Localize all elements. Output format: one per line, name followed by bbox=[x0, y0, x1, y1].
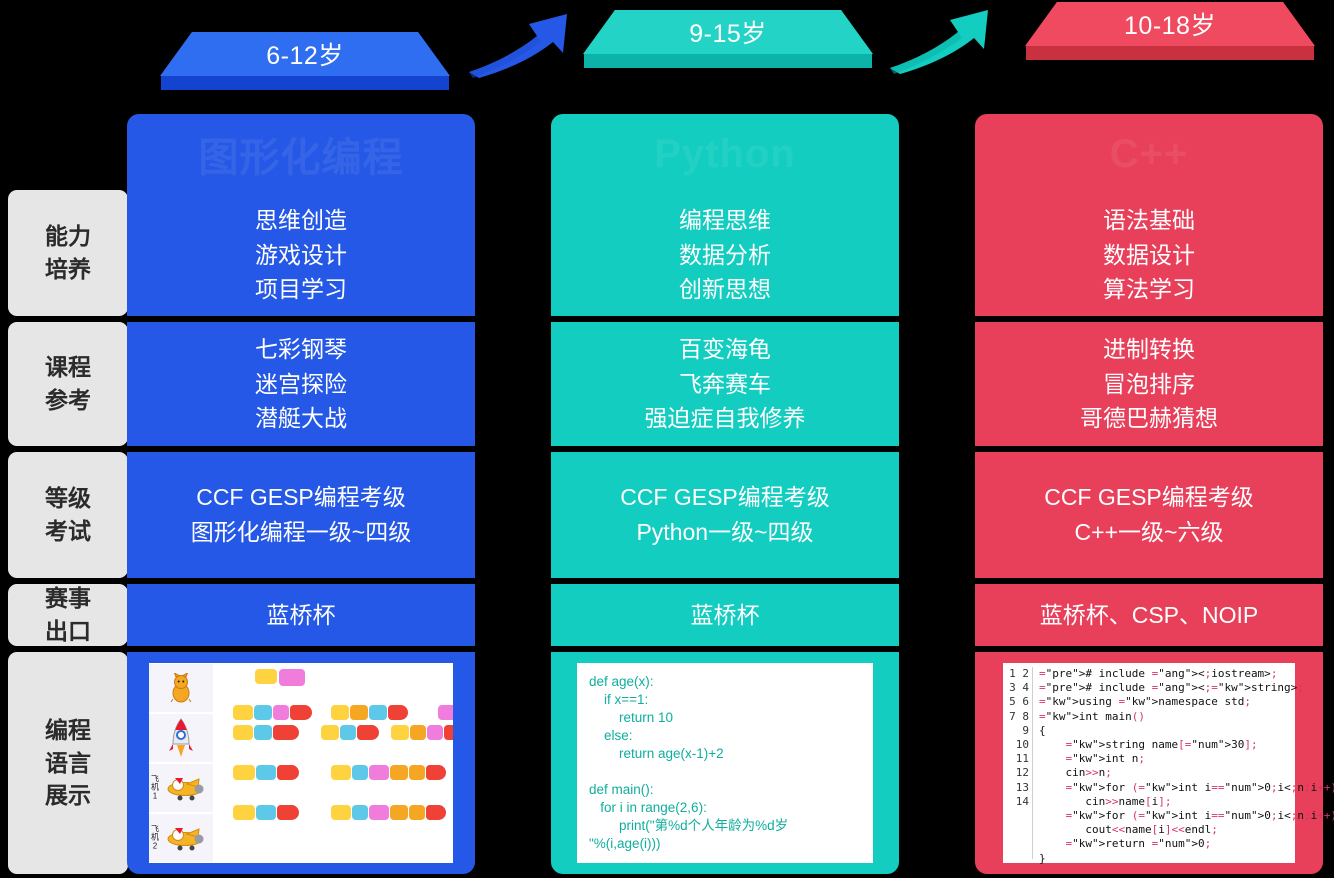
column-watermark: C++ bbox=[1110, 132, 1189, 177]
cell-exams-cpp: CCF GESP编程考级 C++一级~六级 bbox=[975, 452, 1323, 578]
row-label-language-demo: 编程 语言 展示 bbox=[8, 652, 128, 874]
scratch-block bbox=[254, 705, 272, 720]
column-graphical: 图形化编程 思维创造 游戏设计 项目学习 七彩钢琴 迷宫探险 潜艇大战 CCF … bbox=[127, 114, 475, 874]
cell-line: Python一级~四级 bbox=[636, 515, 813, 550]
row-label-line: 编程 bbox=[45, 714, 91, 747]
arrow-teal-icon bbox=[884, 4, 1004, 81]
scratch-block bbox=[369, 705, 387, 720]
cpp-code-screenshot: 1 2 3 4 5 6 7 8 9 10 11 12 13 14 ="pre">… bbox=[1003, 663, 1295, 863]
platform-base-2 bbox=[1026, 46, 1314, 60]
cell-contests-cpp: 蓝桥杯、CSP、NOIP bbox=[975, 584, 1323, 646]
platform-header-0: 6-12岁 bbox=[160, 32, 450, 90]
cell-courses-cpp: 进制转换 冒泡排序 哥德巴赫猜想 bbox=[975, 322, 1323, 446]
scratch-block bbox=[426, 805, 446, 820]
arrow-blue-icon bbox=[463, 8, 583, 85]
cell-line: 冒泡排序 bbox=[1103, 367, 1195, 402]
cpp-line-number-gutter: 1 2 3 4 5 6 7 8 9 10 11 12 13 14 bbox=[1003, 667, 1033, 859]
cell-line: 飞奔赛车 bbox=[679, 367, 771, 402]
scratch-block bbox=[427, 725, 443, 740]
scratch-block bbox=[410, 725, 426, 740]
row-label-line: 课程 bbox=[45, 351, 91, 384]
scratch-block bbox=[369, 765, 389, 780]
scratch-block bbox=[352, 765, 368, 780]
age-label-2: 10-18岁 bbox=[1025, 2, 1315, 46]
row-label-line: 等级 bbox=[45, 482, 91, 515]
cell-language-demo-python: def age(x): if x==1: return 10 else: ret… bbox=[551, 652, 899, 874]
cell-line: 百变海龟 bbox=[679, 332, 771, 367]
column-watermark: 图形化编程 bbox=[199, 125, 404, 183]
cell-courses-python: 百变海龟 飞奔赛车 强迫症自我修养 bbox=[551, 322, 899, 446]
age-label-0: 6-12岁 bbox=[160, 32, 450, 76]
cell-contests-graphical: 蓝桥杯 bbox=[127, 584, 475, 646]
cell-line: CCF GESP编程考级 bbox=[196, 480, 406, 515]
plane-sprite-icon: 飞机2 bbox=[149, 814, 213, 862]
scratch-sprite-list: 飞机1 飞机2 bbox=[149, 663, 213, 863]
platform-base-0 bbox=[161, 76, 449, 90]
cell-line: 游戏设计 bbox=[255, 238, 347, 273]
row-label-ability: 能力 培养 bbox=[8, 190, 128, 316]
row-label-exams: 等级 考试 bbox=[8, 452, 128, 578]
cell-line: 算法学习 bbox=[1103, 272, 1195, 307]
row-label-line: 赛事 bbox=[45, 582, 91, 615]
row-label-line: 考试 bbox=[45, 515, 91, 548]
scratch-block bbox=[426, 765, 446, 780]
row-label-line: 参考 bbox=[45, 384, 91, 417]
scratch-block bbox=[388, 705, 408, 720]
row-label-contests: 赛事 出口 bbox=[8, 584, 128, 646]
cell-line: 迷宫探险 bbox=[255, 367, 347, 402]
platform-header-1: 9-15岁 bbox=[583, 10, 873, 68]
scratch-block bbox=[438, 705, 453, 720]
scratch-block bbox=[357, 725, 379, 740]
cell-line: C++一级~六级 bbox=[1075, 515, 1224, 550]
column-python: Python 编程思维 数据分析 创新思想 百变海龟 飞奔赛车 强迫症自我修养 … bbox=[551, 114, 899, 874]
cell-line: 语法基础 bbox=[1103, 203, 1195, 238]
platform-top-0: 6-12岁 bbox=[160, 32, 450, 76]
cell-line: CCF GESP编程考级 bbox=[620, 480, 830, 515]
cat-sprite-icon bbox=[149, 664, 213, 712]
scratch-block bbox=[233, 805, 255, 820]
column-header-cpp: C++ bbox=[975, 114, 1323, 194]
cell-contests-python: 蓝桥杯 bbox=[551, 584, 899, 646]
plane-sprite-icon: 飞机1 bbox=[149, 764, 213, 812]
scratch-block bbox=[321, 725, 339, 740]
cell-courses-graphical: 七彩钢琴 迷宫探险 潜艇大战 bbox=[127, 322, 475, 446]
cell-line: CCF GESP编程考级 bbox=[1044, 480, 1254, 515]
cell-line: 潜艇大战 bbox=[255, 401, 347, 436]
cell-ability-cpp: 语法基础 数据设计 算法学习 bbox=[975, 194, 1323, 316]
column-watermark: Python bbox=[654, 132, 796, 177]
scratch-block bbox=[273, 725, 299, 740]
cell-line: 七彩钢琴 bbox=[255, 332, 347, 367]
cell-line: 数据设计 bbox=[1103, 238, 1195, 273]
platform-top-2: 10-18岁 bbox=[1025, 2, 1315, 46]
scratch-block-canvas bbox=[213, 663, 453, 863]
cell-line: 哥德巴赫猜想 bbox=[1080, 401, 1218, 436]
cell-exams-graphical: CCF GESP编程考级 图形化编程一级~四级 bbox=[127, 452, 475, 578]
cell-exams-python: CCF GESP编程考级 Python一级~四级 bbox=[551, 452, 899, 578]
platform-header-2: 10-18岁 bbox=[1025, 2, 1315, 60]
scratch-block bbox=[273, 705, 289, 720]
column-header-python: Python bbox=[551, 114, 899, 194]
cpp-code-lines: ="pre"># include ="ang"><;iostream>; ="p… bbox=[1033, 667, 1334, 859]
cell-line: 思维创造 bbox=[255, 203, 347, 238]
column-cpp: C++ 语法基础 数据设计 算法学习 进制转换 冒泡排序 哥德巴赫猜想 CCF … bbox=[975, 114, 1323, 874]
scratch-block bbox=[279, 669, 305, 686]
cell-line: 图形化编程一级~四级 bbox=[191, 515, 411, 550]
scratch-block bbox=[255, 669, 277, 684]
cell-line: 蓝桥杯、CSP、NOIP bbox=[1040, 598, 1259, 633]
cell-line: 数据分析 bbox=[679, 238, 771, 273]
infographic-stage: 6-12岁 9-15岁 10-18岁 能力 培养 bbox=[0, 0, 1334, 878]
scratch-block bbox=[331, 805, 351, 820]
row-label-line: 出口 bbox=[45, 615, 91, 648]
row-label-courses: 课程 参考 bbox=[8, 322, 128, 446]
row-label-line: 能力 bbox=[45, 220, 91, 253]
cell-line: 创新思想 bbox=[679, 272, 771, 307]
scratch-block bbox=[444, 725, 453, 740]
cell-language-demo-cpp: 1 2 3 4 5 6 7 8 9 10 11 12 13 14 ="pre">… bbox=[975, 652, 1323, 874]
scratch-block bbox=[256, 805, 276, 820]
python-code-screenshot: def age(x): if x==1: return 10 else: ret… bbox=[577, 663, 873, 863]
scratch-block bbox=[233, 725, 253, 740]
platform-top-1: 9-15岁 bbox=[583, 10, 873, 54]
scratch-block bbox=[256, 765, 276, 780]
scratch-block bbox=[290, 705, 312, 720]
scratch-block bbox=[331, 705, 349, 720]
cell-line: 蓝桥杯 bbox=[691, 598, 760, 633]
sprite-caption: 飞机1 bbox=[150, 775, 160, 800]
platform-base-1 bbox=[584, 54, 872, 68]
scratch-block bbox=[254, 725, 272, 740]
scratch-block bbox=[409, 805, 425, 820]
cell-ability-graphical: 思维创造 游戏设计 项目学习 bbox=[127, 194, 475, 316]
scratch-block bbox=[331, 765, 351, 780]
cell-line: 项目学习 bbox=[255, 272, 347, 307]
cell-ability-python: 编程思维 数据分析 创新思想 bbox=[551, 194, 899, 316]
scratch-block bbox=[277, 765, 299, 780]
cell-line: 蓝桥杯 bbox=[267, 598, 336, 633]
cell-line: 进制转换 bbox=[1103, 332, 1195, 367]
scratch-block bbox=[391, 725, 409, 740]
scratch-block bbox=[390, 805, 408, 820]
rocket-sprite-icon bbox=[149, 714, 213, 762]
scratch-block bbox=[340, 725, 356, 740]
scratch-block bbox=[390, 765, 408, 780]
scratch-editor-screenshot: 飞机1 飞机2 bbox=[149, 663, 453, 863]
cell-line: 强迫症自我修养 bbox=[645, 401, 806, 436]
cell-line: 编程思维 bbox=[679, 203, 771, 238]
scratch-block bbox=[233, 705, 253, 720]
scratch-block bbox=[369, 805, 389, 820]
row-label-line: 语言 bbox=[45, 747, 91, 780]
age-label-1: 9-15岁 bbox=[583, 10, 873, 54]
cell-language-demo-graphical: 飞机1 飞机2 bbox=[127, 652, 475, 874]
scratch-block bbox=[352, 805, 368, 820]
scratch-block bbox=[277, 805, 299, 820]
scratch-block bbox=[409, 765, 425, 780]
scratch-block bbox=[233, 765, 255, 780]
row-label-line: 展示 bbox=[45, 779, 91, 812]
scratch-block bbox=[350, 705, 368, 720]
column-header-graphical: 图形化编程 bbox=[127, 114, 475, 194]
row-label-line: 培养 bbox=[45, 253, 91, 286]
sprite-caption: 飞机2 bbox=[150, 825, 160, 850]
